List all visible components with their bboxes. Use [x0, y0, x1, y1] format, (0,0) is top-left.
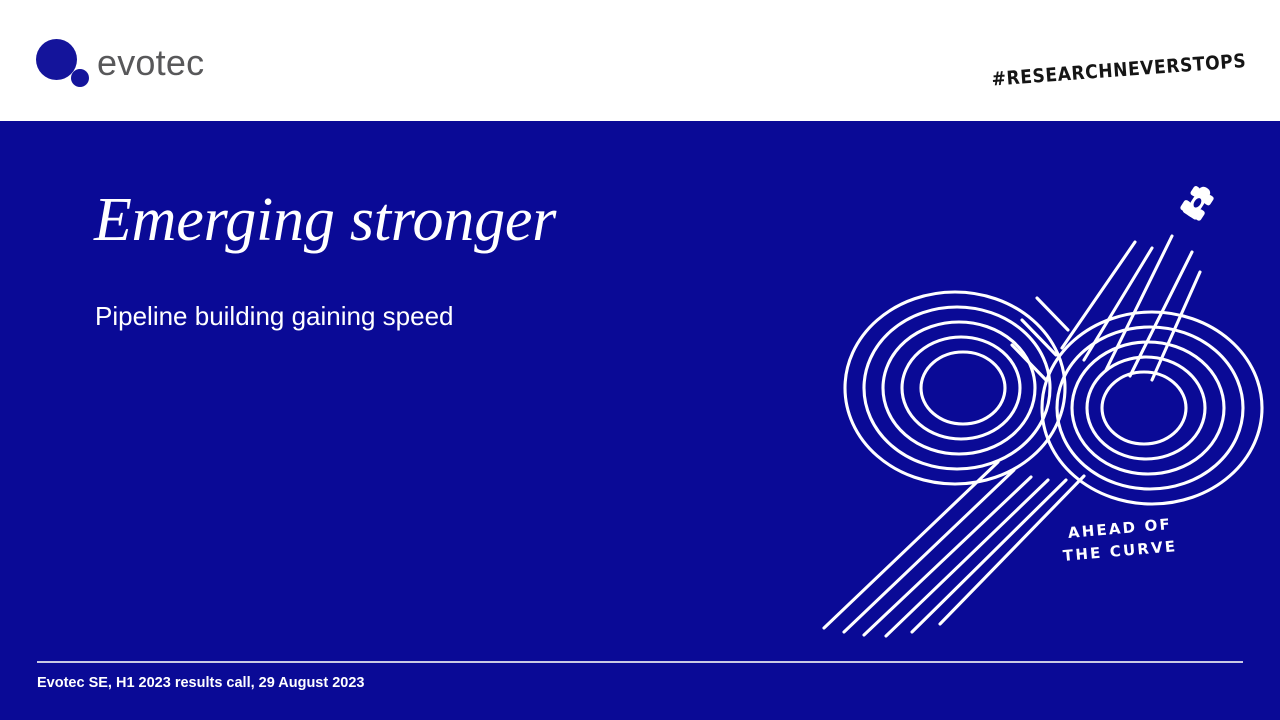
right-loop-ring-2: [1057, 327, 1243, 489]
right-loop-ring-5: [1102, 372, 1186, 444]
page-subtitle: Pipeline building gaining speed: [95, 299, 454, 333]
trail-up-3: [1106, 236, 1172, 370]
page-title: Emerging stronger: [94, 185, 556, 255]
right-loop-ring-3: [1072, 342, 1224, 474]
loop-crossover-1: [1037, 298, 1068, 330]
trail-down-1: [824, 462, 998, 628]
left-loop-ring-2: [864, 307, 1050, 469]
loops-graphic-svg: [800, 180, 1270, 640]
evotec-logo: evotec: [36, 35, 266, 95]
left-loop-ring-5: [921, 352, 1005, 424]
left-loop-ring-3: [883, 322, 1035, 454]
footer-text: Evotec SE, H1 2023 results call, 29 Augu…: [37, 673, 365, 693]
trail-down-4: [886, 480, 1048, 636]
logo-wordmark: evotec: [97, 35, 204, 91]
race-car-icon: [1180, 182, 1217, 221]
trail-down-2: [844, 470, 1014, 632]
ahead-of-the-curve-graphic: [800, 180, 1270, 640]
trail-down-5: [912, 480, 1066, 632]
footer-divider: [37, 661, 1243, 663]
presentation-slide: evotec #RESEARCHNEVERSTOPS Emerging stro…: [0, 0, 1280, 720]
logo-circle-small-icon: [71, 69, 89, 87]
